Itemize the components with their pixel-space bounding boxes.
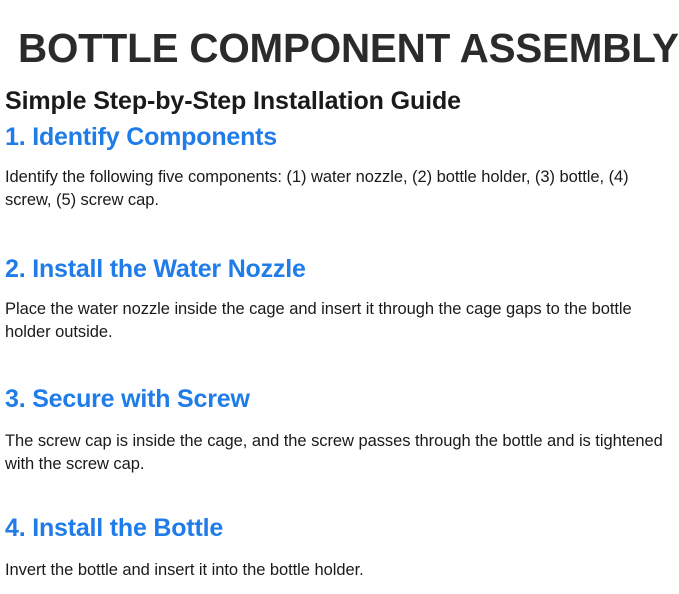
page-title: BOTTLE COMPONENT ASSEMBLY (18, 25, 668, 71)
section-heading-2: 2. Install the Water Nozzle (5, 254, 675, 284)
section-heading-4: 4. Install the Bottle (5, 513, 675, 543)
section-body-3: The screw cap is inside the cage, and th… (5, 430, 677, 476)
instruction-page: BOTTLE COMPONENT ASSEMBLY Simple Step-by… (0, 0, 679, 594)
page-subtitle: Simple Step-by-Step Installation Guide (5, 86, 461, 116)
section-install-water-nozzle: 2. Install the Water Nozzle Place the wa… (5, 254, 675, 344)
section-identify-components: 1. Identify Components Identify the foll… (5, 122, 675, 212)
section-body-1: Identify the following five components: … (5, 166, 677, 212)
section-body-2: Place the water nozzle inside the cage a… (5, 298, 677, 344)
section-secure-with-screw: 3. Secure with Screw The screw cap is in… (5, 384, 675, 476)
section-heading-3: 3. Secure with Screw (5, 384, 675, 414)
section-body-4: Invert the bottle and insert it into the… (5, 559, 677, 582)
section-heading-1: 1. Identify Components (5, 122, 675, 152)
section-install-the-bottle: 4. Install the Bottle Invert the bottle … (5, 513, 675, 582)
